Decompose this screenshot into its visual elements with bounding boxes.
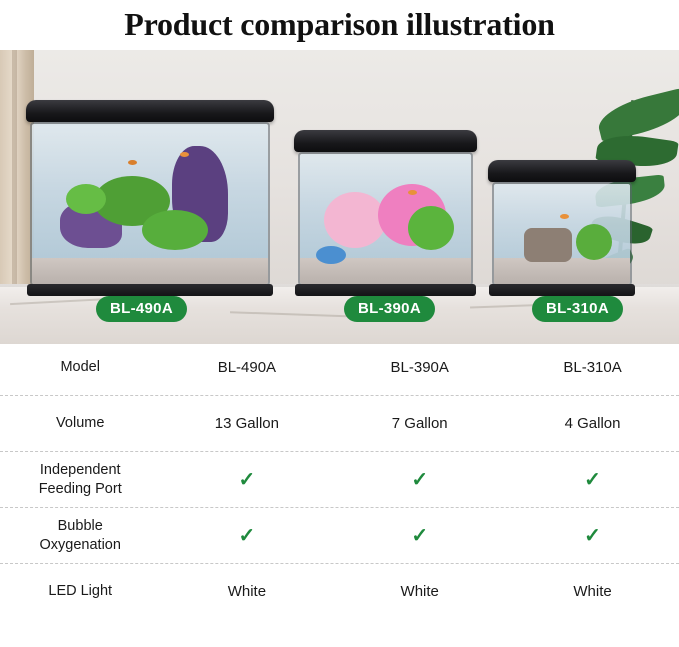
tank-decor-plant <box>66 184 106 214</box>
row-value: BL-390A <box>333 353 506 382</box>
badge-bl-490a: BL-490A <box>96 296 187 322</box>
tank-base <box>295 284 476 296</box>
tank-decor-plant <box>142 210 208 250</box>
plant-leaf <box>594 87 679 142</box>
checkmark-icon: ✓ <box>160 464 333 496</box>
fish <box>408 190 417 195</box>
row-label: Model <box>0 352 160 383</box>
row-label: Volume <box>0 408 160 439</box>
tank-lid <box>488 160 636 182</box>
curtain <box>0 50 34 300</box>
row-label: Independent Feeding Port <box>0 455 160 505</box>
tank-glass <box>298 152 473 286</box>
aquarium-bl-490a <box>30 116 270 296</box>
row-value: BL-310A <box>506 353 679 382</box>
checkmark-icon: ✓ <box>333 464 506 496</box>
tank-base <box>27 284 273 296</box>
tank-decor-plant <box>408 206 454 250</box>
page-title: Product comparison illustration <box>0 0 679 50</box>
tank-decor-plant <box>576 224 612 260</box>
tank-decor-house <box>524 228 572 262</box>
tank-lid <box>294 130 477 152</box>
table-row: LED Light White White White <box>0 564 679 619</box>
table-row: Model BL-490A BL-390A BL-310A <box>0 340 679 396</box>
fish <box>128 160 137 165</box>
aquarium-bl-310a <box>492 176 632 296</box>
comparison-table: Model BL-490A BL-390A BL-310A Volume 13 … <box>0 340 679 619</box>
checkmark-icon: ✓ <box>160 520 333 552</box>
table-row: Volume 13 Gallon 7 Gallon 4 Gallon <box>0 396 679 452</box>
checkmark-icon: ✓ <box>333 520 506 552</box>
table-row: Bubble Oxygenation ✓ ✓ ✓ <box>0 508 679 564</box>
row-value: 13 Gallon <box>160 409 333 438</box>
badge-bl-390a: BL-390A <box>344 296 435 322</box>
aquarium-bl-390a <box>298 146 473 296</box>
badge-bl-310a: BL-310A <box>532 296 623 322</box>
tank-base <box>489 284 635 296</box>
row-label: LED Light <box>0 576 160 607</box>
fish <box>560 214 569 219</box>
table-row: Independent Feeding Port ✓ ✓ ✓ <box>0 452 679 508</box>
checkmark-icon: ✓ <box>506 520 679 552</box>
row-value: White <box>160 577 333 606</box>
tank-glass <box>492 182 632 286</box>
row-value: 4 Gallon <box>506 409 679 438</box>
row-label: Bubble Oxygenation <box>0 511 160 561</box>
tank-lid <box>26 100 274 122</box>
tank-decor-starfish <box>316 246 346 264</box>
fish <box>180 152 189 157</box>
tank-gravel <box>32 258 268 284</box>
tank-decor-coral <box>324 192 386 248</box>
tank-glass <box>30 122 270 286</box>
product-photo: BL-490A BL-390A BL-310A <box>0 50 679 344</box>
checkmark-icon: ✓ <box>506 464 679 496</box>
row-value: White <box>333 577 506 606</box>
row-value: 7 Gallon <box>333 409 506 438</box>
row-value: BL-490A <box>160 353 333 382</box>
product-comparison-page: Product comparison illustration <box>0 0 679 647</box>
row-value: White <box>506 577 679 606</box>
